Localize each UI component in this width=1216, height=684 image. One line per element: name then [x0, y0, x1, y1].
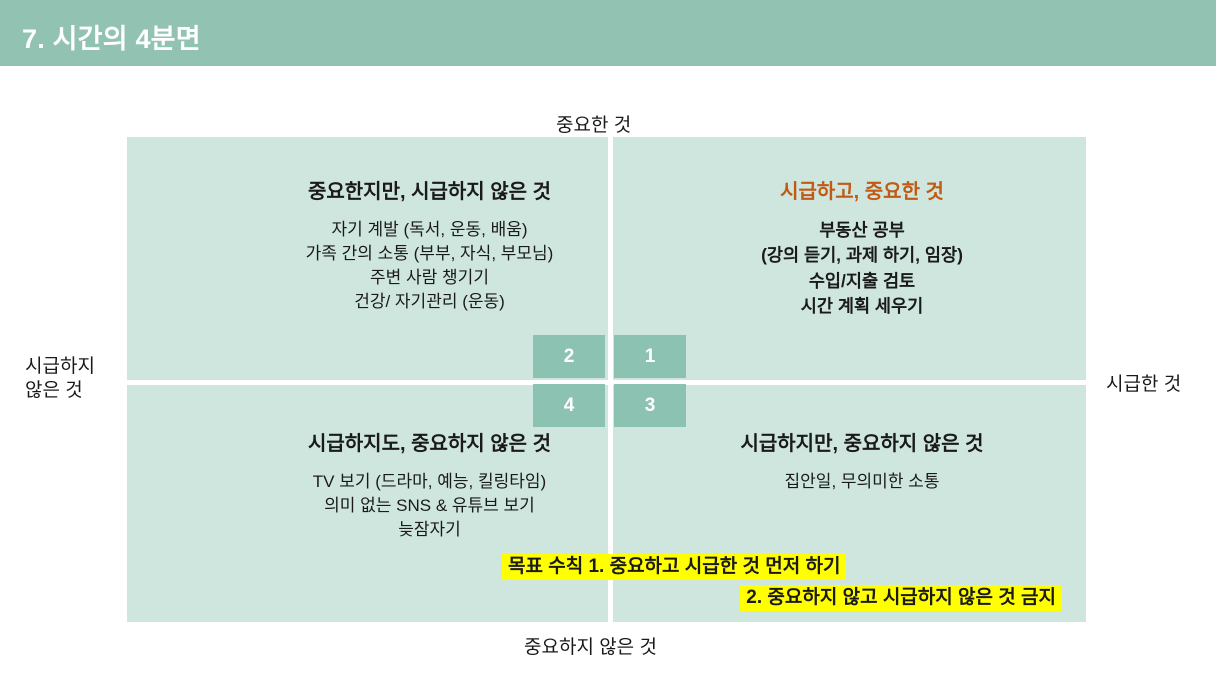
- priority-number-1: 1: [614, 335, 686, 378]
- quadrant-4-not-urgent-not-important: 시급하지도, 중요하지 않은 것 TV 보기 (드라마, 예능, 킬링타임) 의…: [232, 427, 627, 542]
- quadrant-2-item: 주변 사람 챙기기: [232, 266, 627, 290]
- priority-number-grid: 2 1 4 3: [533, 335, 686, 427]
- quadrant-4-item: TV 보기 (드라마, 예능, 킬링타임): [232, 470, 627, 494]
- goal-rule-row-1: 목표 수칙 1. 중요하고 시급한 것 먼저 하기: [502, 554, 1062, 580]
- axis-label-important: 중요한 것: [556, 110, 631, 137]
- quadrant-2-title: 중요한지만, 시급하지 않은 것: [232, 175, 627, 204]
- quadrant-2-item: 자기 계발 (독서, 운동, 배움): [232, 218, 627, 242]
- quadrant-3-urgent-not-important: 시급하지만, 중요하지 않은 것 집안일, 무의미한 소통: [647, 427, 1077, 494]
- quadrant-matrix: 중요한지만, 시급하지 않은 것 자기 계발 (독서, 운동, 배움) 가족 간…: [127, 137, 1086, 622]
- quadrant-4-item: 의미 없는 SNS & 유튜브 보기: [232, 494, 627, 518]
- priority-number-4: 4: [533, 384, 605, 427]
- axis-label-urgent: 시급한 것: [1106, 369, 1181, 396]
- quadrant-3-item: 집안일, 무의미한 소통: [647, 470, 1077, 494]
- axis-label-not-urgent: 시급하지 않은 것: [25, 355, 95, 403]
- goal-rule-row-2: 2. 중요하지 않고 시급하지 않은 것 금지: [502, 585, 1062, 611]
- quadrant-1-title: 시급하고, 중요한 것: [647, 175, 1077, 204]
- quadrant-1-urgent-and-important: 시급하고, 중요한 것 부동산 공부 (강의 듣기, 과제 하기, 임장) 수입…: [647, 175, 1077, 320]
- priority-number-3: 3: [614, 384, 686, 427]
- quadrant-4-item: 늦잠자기: [232, 518, 627, 542]
- goal-rules-block: 목표 수칙 1. 중요하고 시급한 것 먼저 하기 2. 중요하지 않고 시급하…: [502, 554, 1062, 616]
- goal-rule-2: 2. 중요하지 않고 시급하지 않은 것 금지: [740, 585, 1062, 611]
- quadrant-1-item: 시간 계획 세우기: [647, 294, 1077, 319]
- quadrant-1-item: (강의 듣기, 과제 하기, 임장): [647, 243, 1077, 268]
- quadrant-3-title: 시급하지만, 중요하지 않은 것: [647, 427, 1077, 456]
- page-title: 7. 시간의 4분면: [22, 17, 201, 56]
- quadrant-3-items: 집안일, 무의미한 소통: [647, 470, 1077, 494]
- quadrant-2-item: 가족 간의 소통 (부부, 자식, 부모님): [232, 242, 627, 266]
- priority-number-2: 2: [533, 335, 605, 378]
- header-bar: 7. 시간의 4분면: [0, 0, 1216, 66]
- quadrant-1-item: 수입/지출 검토: [647, 269, 1077, 294]
- quadrant-4-items: TV 보기 (드라마, 예능, 킬링타임) 의미 없는 SNS & 유튜브 보기…: [232, 470, 627, 542]
- axis-label-not-urgent-line2: 않은 것: [25, 379, 95, 403]
- quadrant-2-item: 건강/ 자기관리 (운동): [232, 290, 627, 314]
- quadrant-1-item: 부동산 공부: [647, 218, 1077, 243]
- goal-rule-1: 목표 수칙 1. 중요하고 시급한 것 먼저 하기: [502, 554, 846, 580]
- axis-label-not-important: 중요하지 않은 것: [524, 632, 657, 659]
- quadrant-2-important-not-urgent: 중요한지만, 시급하지 않은 것 자기 계발 (독서, 운동, 배움) 가족 간…: [232, 175, 627, 315]
- quadrant-2-items: 자기 계발 (독서, 운동, 배움) 가족 간의 소통 (부부, 자식, 부모님…: [232, 218, 627, 315]
- quadrant-1-items: 부동산 공부 (강의 듣기, 과제 하기, 임장) 수입/지출 검토 시간 계획…: [647, 218, 1077, 320]
- axis-label-not-urgent-line1: 시급하지: [25, 355, 95, 379]
- quadrant-4-title: 시급하지도, 중요하지 않은 것: [232, 427, 627, 456]
